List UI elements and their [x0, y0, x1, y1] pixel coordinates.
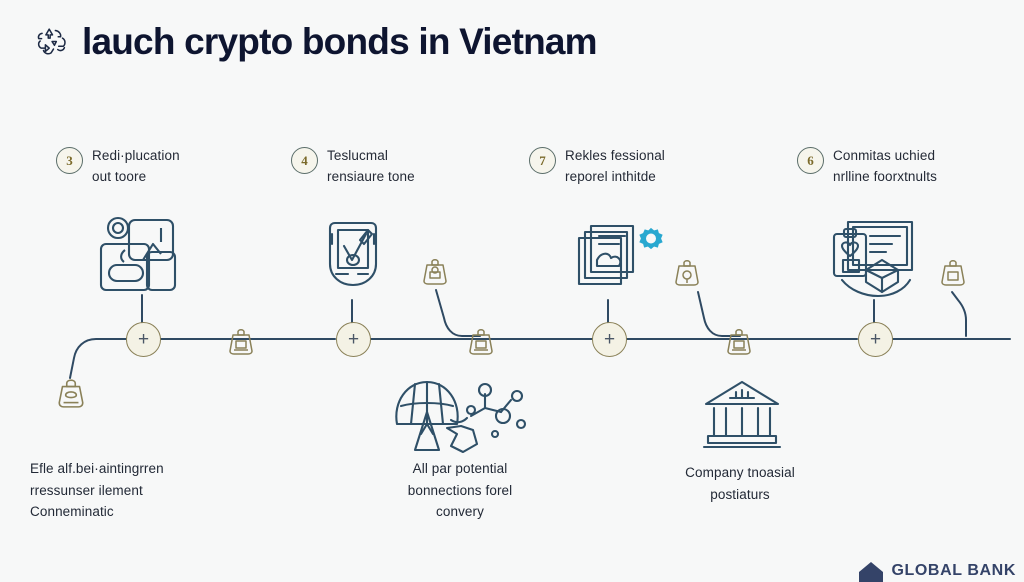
documents-gear-icon: [573, 220, 663, 296]
bag-icon-2: [468, 326, 494, 356]
step-2-badge: 4: [291, 147, 318, 174]
bag-icon-5: [674, 257, 700, 287]
caption-bottom-center-line1: All par potential: [370, 458, 550, 480]
timeline-node-2[interactable]: +: [336, 322, 371, 357]
watermark: GLOBAL BANK: [858, 560, 1016, 582]
watermark-text: GLOBAL BANK: [891, 562, 1016, 580]
bag-icon-3: [726, 326, 752, 356]
timeline-node-3[interactable]: +: [592, 322, 627, 357]
caption-bottom-right-line2: postiaturs: [650, 484, 830, 506]
bank-building-icon: [700, 378, 784, 450]
bag-icon-7: [57, 377, 85, 409]
step-2-line1: Teslucmal: [327, 148, 388, 163]
diagram-canvas: lauch crypto bonds in Vietnam 3: [0, 0, 1024, 576]
step-1-line2: out toore: [92, 167, 180, 188]
step-1-text: Redi·plucation out toore: [92, 146, 180, 188]
step-1-line1: Redi·plucation: [92, 148, 180, 163]
caption-bottom-left-line1: Efle alf.bei·aintingrren: [30, 458, 260, 480]
step-1: 3 Redi·plucation out toore: [56, 146, 271, 188]
caption-bottom-left-line2: rressunser ilement: [30, 480, 260, 502]
step-3-text: Rekles fessional reporel inthitde: [565, 146, 665, 188]
page-title-text: lauch crypto bonds in Vietnam: [82, 23, 597, 60]
caption-bottom-center: All par potential bonnections forel conv…: [370, 458, 550, 523]
step-4-text: Conmitas uchied nrlline foorxtnults: [833, 146, 937, 188]
cloud-recycle-icon: [34, 22, 72, 60]
handover-box-icon: [820, 218, 918, 300]
step-3-line2: reporel inthitde: [565, 167, 665, 188]
step-3-line1: Rekles fessional: [565, 148, 665, 163]
step-4: 6 Conmitas uchied nrlline foorxtnults: [797, 146, 1012, 188]
timeline-node-1[interactable]: +: [126, 322, 161, 357]
tablet-signature-icon: [322, 218, 384, 296]
timeline-node-4[interactable]: +: [858, 322, 893, 357]
timeline-node-3-symbol: +: [604, 330, 615, 349]
caption-bottom-center-line3: convery: [370, 501, 550, 523]
timeline-node-1-symbol: +: [138, 330, 149, 349]
step-4-line2: nrlline foorxtnults: [833, 167, 937, 188]
step-2-line2: rensiaure tone: [327, 167, 415, 188]
caption-bottom-left-line3: Conneminatic: [30, 501, 260, 523]
bag-icon-4: [422, 256, 448, 286]
caption-bottom-left: Efle alf.bei·aintingrren rressunser ilem…: [30, 458, 260, 523]
bag-icon-6: [940, 257, 966, 287]
step-4-badge: 6: [797, 147, 824, 174]
step-2-text: Teslucmal rensiaure tone: [327, 146, 415, 188]
caption-bottom-right: Company tnoasial postiaturs: [650, 462, 830, 505]
globe-network-icon: [385, 372, 535, 458]
step-4-line1: Conmitas uchied: [833, 148, 935, 163]
step-1-badge: 3: [56, 147, 83, 174]
page-title: lauch crypto bonds in Vietnam: [34, 22, 597, 60]
caption-bottom-center-line2: bonnections forel: [370, 480, 550, 502]
timeline-node-4-symbol: +: [870, 330, 881, 349]
step-3: 7 Rekles fessional reporel inthitde: [529, 146, 744, 188]
step-3-badge: 7: [529, 147, 556, 174]
step-2: 4 Teslucmal rensiaure tone: [291, 146, 506, 188]
cards-stack-icon: [95, 212, 195, 300]
shield-logo-icon: [858, 560, 884, 582]
caption-bottom-right-line1: Company tnoasial: [650, 462, 830, 484]
timeline-node-2-symbol: +: [348, 330, 359, 349]
bag-icon-1: [228, 326, 254, 356]
